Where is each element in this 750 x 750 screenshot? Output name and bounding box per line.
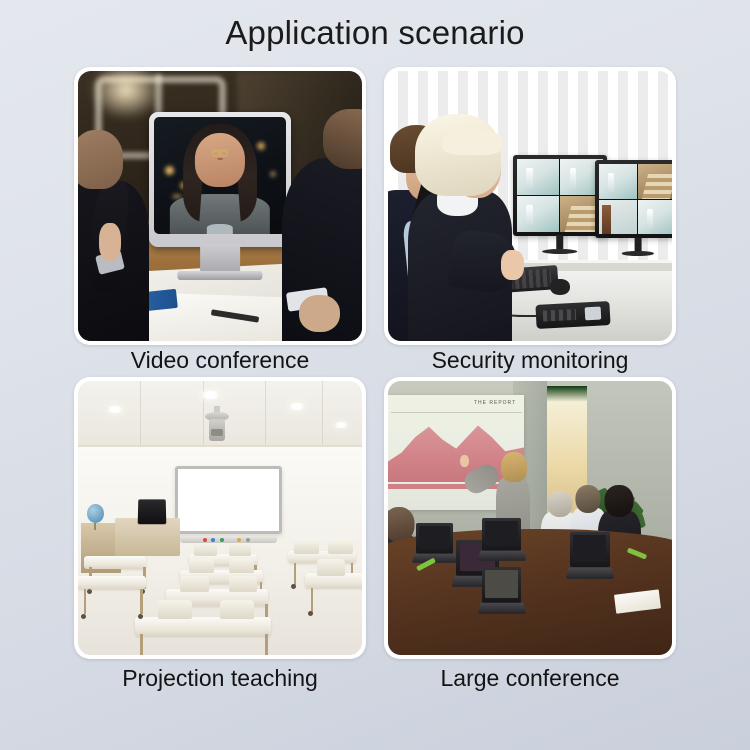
ceiling-tile-line xyxy=(140,381,141,445)
student-chair xyxy=(229,559,255,573)
laptop-base xyxy=(477,551,526,561)
monitor-foot xyxy=(622,251,654,256)
monitor-stand xyxy=(635,238,642,252)
bokeh-light xyxy=(270,171,276,177)
desk-leg xyxy=(84,589,87,614)
remote-participant-shirt xyxy=(207,224,233,234)
ceiling-light xyxy=(106,406,124,413)
large-conference-photo: THE REPORT xyxy=(388,381,672,655)
eyeglasses-icon xyxy=(211,149,228,154)
scenario-card-projection-teaching[interactable] xyxy=(74,377,366,659)
desk-leg xyxy=(294,563,297,585)
colleague-right-hand xyxy=(299,295,340,332)
ceiling-projector xyxy=(203,406,231,442)
remote-participant-smile xyxy=(217,158,223,161)
mouse xyxy=(550,279,570,295)
slide-title: THE REPORT xyxy=(474,400,516,406)
student-chair xyxy=(158,600,192,619)
caption-video-conference: Video conference xyxy=(74,347,366,374)
monitor-stand xyxy=(200,244,240,274)
student-chair xyxy=(229,543,252,557)
ceiling-light xyxy=(334,422,348,428)
projector-lens xyxy=(211,429,223,435)
student-chair xyxy=(317,559,345,575)
whiteboard xyxy=(175,466,283,535)
conference-speakerphone xyxy=(535,301,610,329)
monitor-stand xyxy=(556,235,563,250)
marker-dot xyxy=(237,538,241,542)
laptop xyxy=(482,518,522,551)
presenter-hair xyxy=(501,452,526,482)
remote-participant-face xyxy=(195,133,245,187)
cctv-feed xyxy=(599,164,637,199)
laptop-base xyxy=(477,603,526,614)
student-desk xyxy=(78,576,146,590)
attendee-head xyxy=(576,485,601,513)
caption-large-conference: Large conference xyxy=(384,665,676,692)
desk-leg xyxy=(140,634,143,655)
scenario-cell-security-monitoring[interactable]: Security monitoring xyxy=(384,67,676,359)
marker-tray xyxy=(180,536,277,543)
laptop xyxy=(482,567,522,603)
cctv-quad-view xyxy=(599,164,672,234)
cctv-feed xyxy=(517,159,559,195)
student-chair xyxy=(294,540,320,554)
student-chair xyxy=(194,543,217,557)
desk-caster xyxy=(87,589,92,594)
monitor-base xyxy=(177,271,262,280)
application-scenario-page: Application scenario xyxy=(0,0,750,750)
slide-rule xyxy=(391,412,522,413)
scenario-card-large-conference[interactable]: THE REPORT xyxy=(384,377,676,659)
laptop-screen xyxy=(419,526,450,550)
student-chair xyxy=(328,540,354,554)
colleague-right xyxy=(282,109,362,341)
scenario-card-security-monitoring[interactable] xyxy=(384,67,676,345)
laptop-screen xyxy=(573,535,606,563)
scenario-cell-large-conference[interactable]: THE REPORT xyxy=(384,377,676,669)
operator-woman-hair xyxy=(415,114,501,196)
desk-caster xyxy=(138,614,143,619)
bokeh-light xyxy=(165,166,174,175)
laptop xyxy=(416,523,453,553)
ceiling-light xyxy=(288,403,306,410)
desk-leg xyxy=(311,588,314,613)
laptop xyxy=(570,532,610,568)
monitor-foot xyxy=(542,249,578,254)
globe xyxy=(87,504,104,523)
laptop-screen xyxy=(485,521,518,547)
student-chair xyxy=(220,600,254,619)
laptop xyxy=(137,499,166,524)
security-monitoring-photo xyxy=(388,71,672,341)
student-chair xyxy=(189,559,215,573)
monitor-screen xyxy=(154,117,286,234)
cctv-quad-view xyxy=(517,159,603,232)
colleague-left-head xyxy=(78,130,123,189)
scenario-cell-projection-teaching[interactable]: Projection teaching xyxy=(74,377,366,669)
cctv-feed xyxy=(517,196,559,232)
caption-security-monitoring: Security monitoring xyxy=(384,347,676,374)
cctv-monitor-right xyxy=(595,160,672,238)
page-title: Application scenario xyxy=(0,14,750,52)
background-ceiling-light xyxy=(89,71,163,120)
student-desk xyxy=(84,556,146,568)
marker-dot xyxy=(203,538,207,542)
cctv-feed-door xyxy=(599,200,637,235)
ceiling-tile-line xyxy=(265,381,266,445)
operator-woman-hand xyxy=(501,250,524,279)
scenario-grid: Video conference xyxy=(74,67,676,669)
projection-teaching-photo xyxy=(78,381,362,655)
operator-woman-fringe xyxy=(442,128,503,155)
operator-woman xyxy=(408,114,522,341)
cctv-monitor-left xyxy=(513,155,607,236)
marker-dot xyxy=(246,538,250,542)
desk-caster xyxy=(291,584,296,589)
cctv-feed-staircase xyxy=(638,164,672,199)
desk-leg xyxy=(265,634,268,655)
laptop-screen xyxy=(485,570,518,598)
colleague-right-head xyxy=(323,109,362,169)
colleague-left xyxy=(78,130,149,341)
scenario-card-video-conference[interactable] xyxy=(74,67,366,345)
video-conference-photo xyxy=(78,71,362,341)
ceiling-tile-line xyxy=(322,381,323,445)
cctv-feed xyxy=(638,200,672,235)
student-chair xyxy=(229,576,257,592)
desk-leg xyxy=(140,589,143,614)
marker-dot xyxy=(220,538,224,542)
student-chair xyxy=(180,576,208,592)
scenario-cell-video-conference[interactable]: Video conference xyxy=(74,67,366,359)
ceiling-light xyxy=(200,391,221,399)
attendee-head xyxy=(547,491,572,517)
caption-projection-teaching: Projection teaching xyxy=(74,665,366,692)
desktop-monitor xyxy=(149,112,291,247)
bokeh-light xyxy=(257,142,265,150)
attendee-head xyxy=(605,485,634,517)
colleague-left-hand xyxy=(99,223,121,261)
student-desk xyxy=(135,617,271,636)
laptop-base xyxy=(565,567,614,578)
desk-caster xyxy=(81,614,86,619)
